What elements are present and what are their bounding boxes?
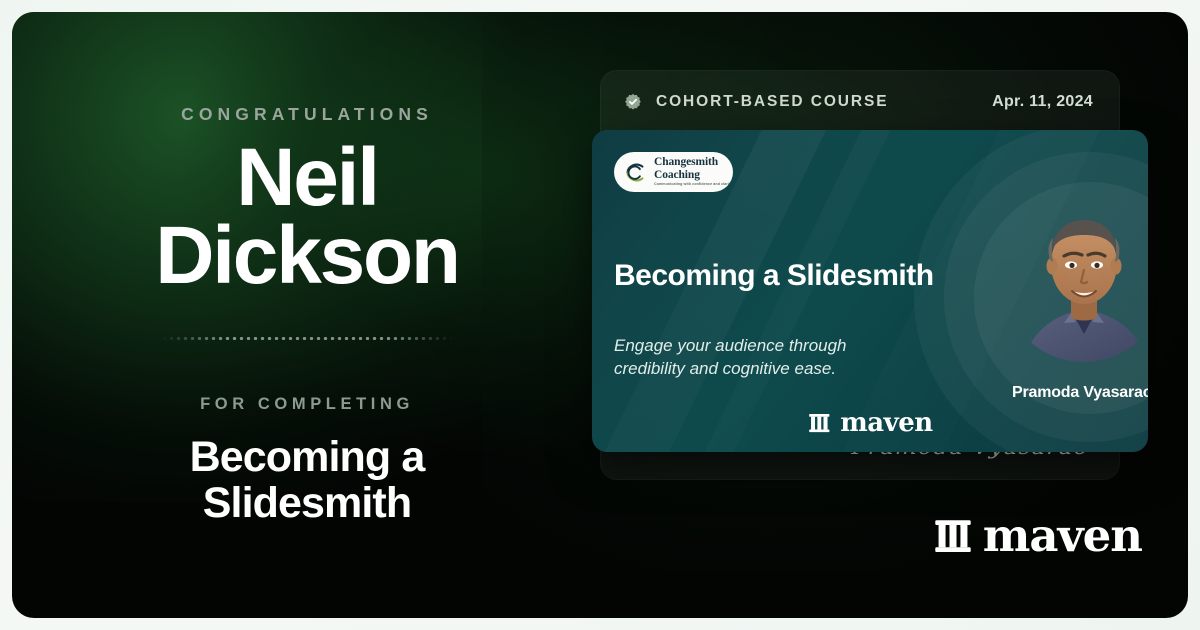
provider-name-line-1: Changesmith [654,157,732,169]
maven-pillars-icon [807,411,831,435]
instructor-portrait [1014,202,1148,372]
maven-logo: maven [932,509,1142,562]
course-kicker-group: COHORT-BASED COURSE [623,92,888,112]
provider-name-block: Changesmith Coaching Communicating with … [654,157,732,186]
thumbnail-course-subtitle: Engage your audience through credibility… [614,334,904,381]
course-thumbnail[interactable]: Changesmith Coaching Communicating with … [592,130,1148,452]
certificate-page: CONGRATULATIONS Neil Dickson FOR COMPLET… [0,0,1200,630]
instructor-portrait-image [1014,202,1148,372]
course-date: Apr. 11, 2024 [992,93,1093,111]
instructor-block: Pramoda Vyasarao [1014,202,1148,398]
maven-wordmark: maven [983,509,1142,562]
certificate-card: CONGRATULATIONS Neil Dickson FOR COMPLET… [12,12,1188,618]
course-card-header: COHORT-BASED COURSE Apr. 11, 2024 [601,71,1119,133]
thumbnail-maven-wordmark: maven [840,408,932,438]
instructor-name: Pramoda Vyasarao [1012,384,1148,402]
changesmith-c-mark-icon [623,160,648,185]
provider-tagline: Communicating with confidence and clarit… [654,183,732,187]
thumbnail-course-title: Becoming a Slidesmith [614,259,934,293]
maven-pillars-icon [932,515,974,557]
course-kicker-label: COHORT-BASED COURSE [656,93,888,111]
provider-logo-pill: Changesmith Coaching Communicating with … [614,152,733,192]
provider-name-line-2: Coaching [654,170,732,182]
verified-badge-icon [623,92,643,112]
thumbnail-maven-logo: maven [807,408,932,438]
